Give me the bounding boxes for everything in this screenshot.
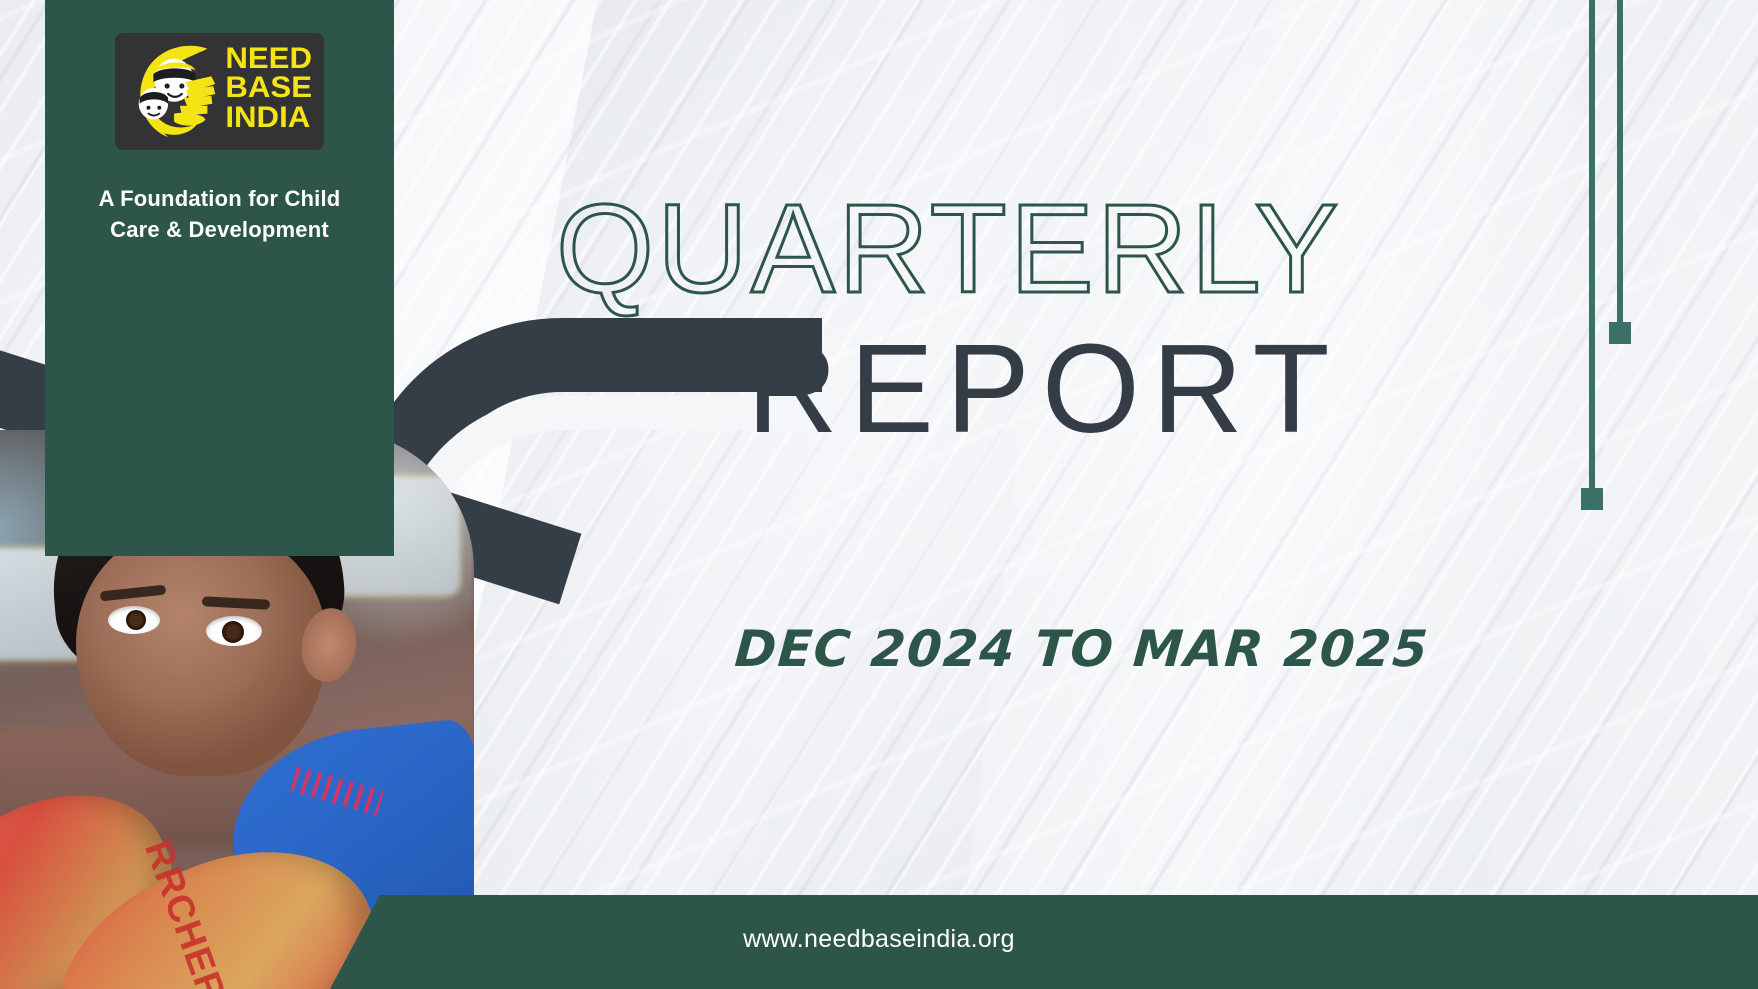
tagline-line-1: A Foundation for Child xyxy=(45,183,394,214)
brand-tagline: A Foundation for Child Care & Developmen… xyxy=(45,183,394,245)
headline-report: REPORT xyxy=(556,326,1342,452)
accent-line-short-cap xyxy=(1609,322,1631,344)
tagline-line-2: Care & Development xyxy=(45,214,394,245)
report-headline: QUARTERLY REPORT xyxy=(556,186,1342,452)
headline-quarterly: QUARTERLY xyxy=(556,186,1342,312)
logo-word-2: BASE xyxy=(225,73,312,102)
quarterly-report-cover: RRCI RRCHER xyxy=(0,0,1758,989)
photo-child-eye-left xyxy=(108,606,160,634)
report-date-range: DEC 2024 TO MAR 2025 xyxy=(733,620,1431,678)
accent-line-long-cap xyxy=(1581,488,1603,510)
organization-logo: NEED BASE INDIA xyxy=(115,33,324,150)
crescent-hands-children-icon xyxy=(121,37,229,145)
logo-wordmark: NEED BASE INDIA xyxy=(225,44,312,132)
photo-child-eye-right xyxy=(206,616,262,646)
accent-line-long xyxy=(1589,0,1595,490)
logo-word-3: INDIA xyxy=(225,103,312,132)
accent-line-short xyxy=(1617,0,1623,326)
photo-child-face xyxy=(76,526,326,776)
logo-word-1: NEED xyxy=(225,44,312,73)
brand-panel: NEED BASE INDIA A Foundation for Child C… xyxy=(45,0,394,556)
